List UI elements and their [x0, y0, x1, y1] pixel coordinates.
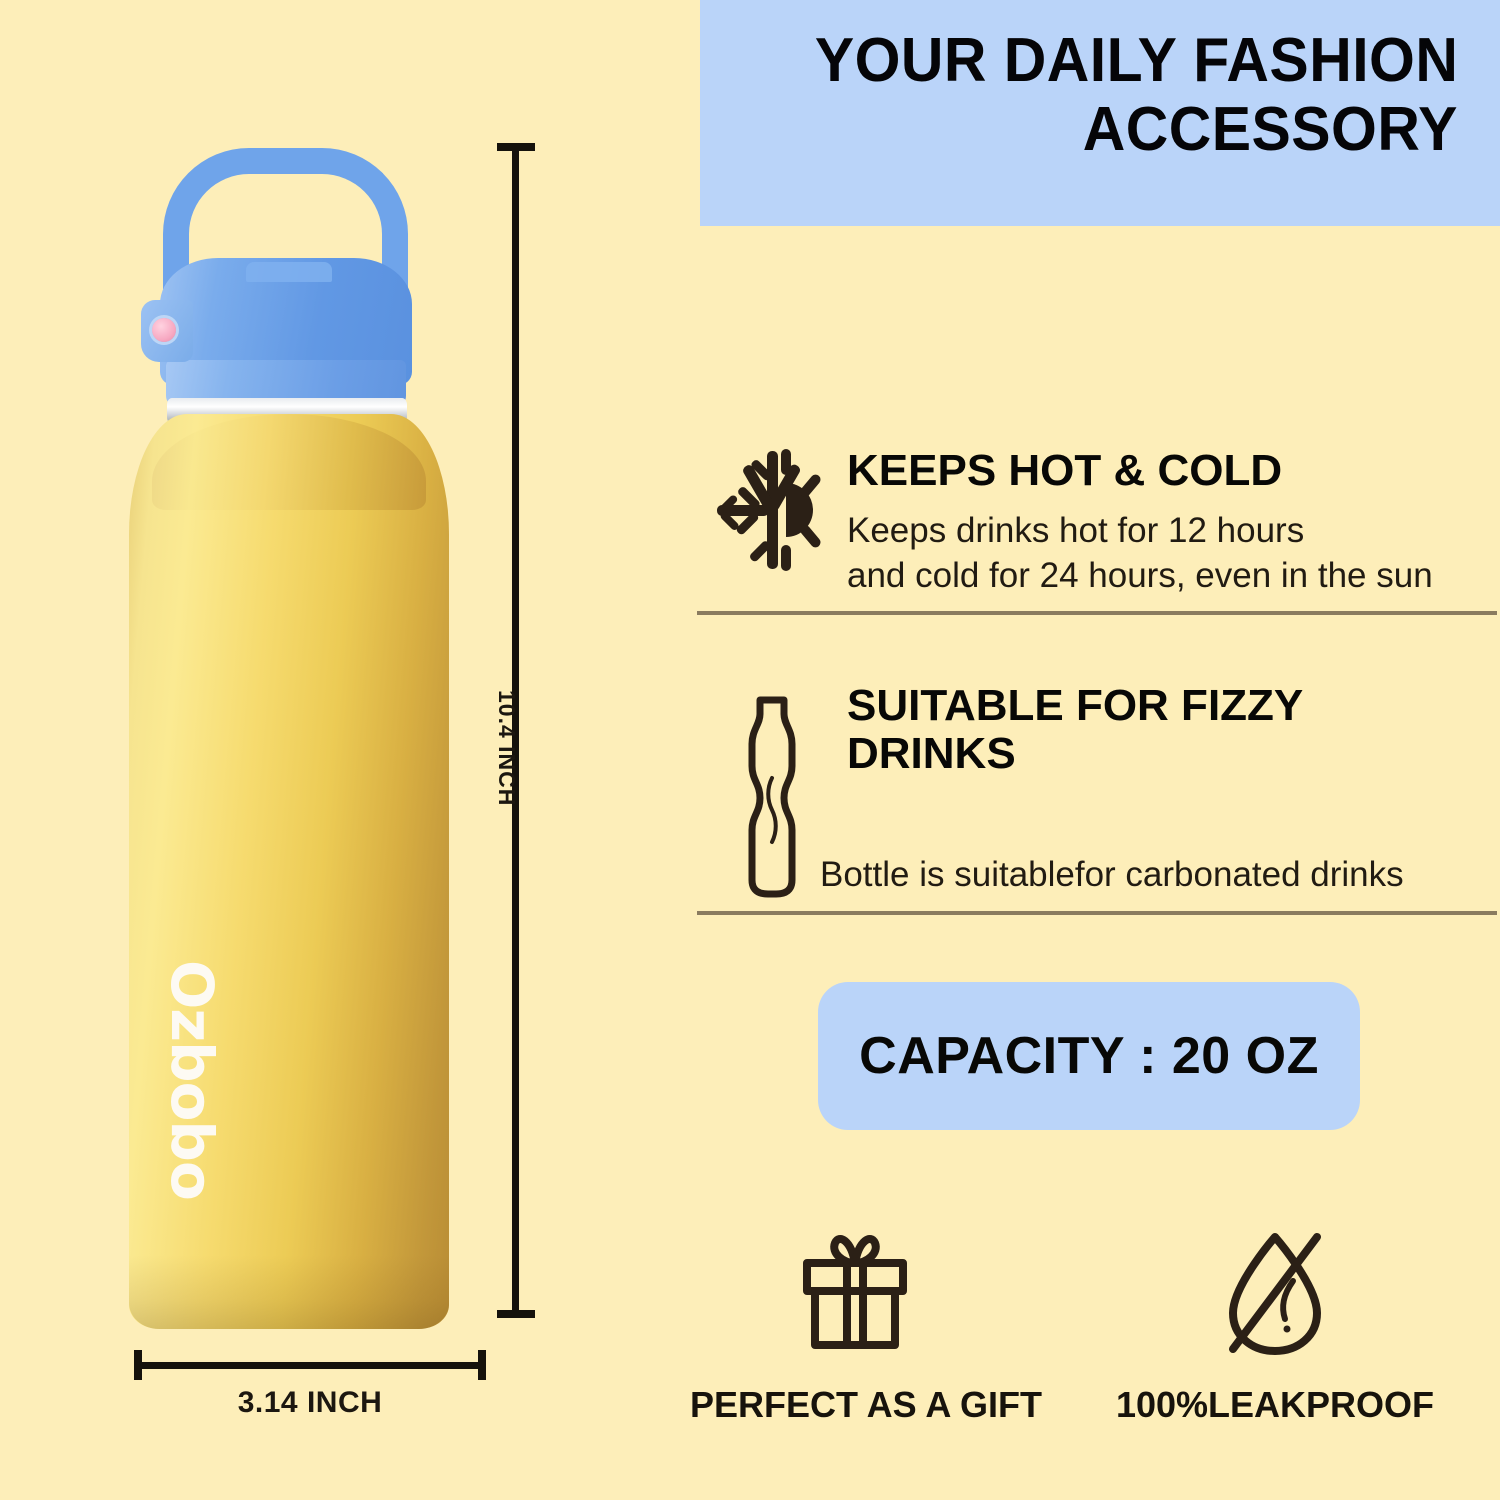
feature-title-line-1: SUITABLE FOR FIZZY: [847, 682, 1487, 730]
capacity-label: CAPACITY : 20 OZ: [859, 1026, 1319, 1086]
header-banner: YOUR DAILY FASHION ACCESSORY: [700, 0, 1500, 226]
badge-label: PERFECT AS A GIFT: [690, 1384, 1020, 1426]
infographic-canvas: YOUR DAILY FASHION ACCESSORY Ozbobo 10.4…: [0, 0, 1500, 1500]
section-divider-2: [697, 911, 1497, 915]
section-divider-1: [697, 611, 1497, 615]
height-dimension-label: 10.4 INCH: [493, 690, 520, 806]
bottle-cap-lock-button: [152, 318, 176, 342]
feature-title: KEEPS HOT & COLD: [847, 447, 1487, 495]
bottle-base-shading: [129, 1255, 449, 1329]
bottle-brand-logo: Ozbobo: [156, 960, 226, 1200]
width-dimension-cap-right: [478, 1350, 486, 1380]
capacity-badge: CAPACITY : 20 OZ: [818, 982, 1360, 1130]
bottle-cap-ridge: [246, 262, 332, 282]
feature-description-line-2: and cold for 24 hours, even in the sun: [847, 554, 1487, 599]
feature-suitable-for-fizzy-drinks-text: SUITABLE FOR FIZZY DRINKS: [847, 680, 1487, 779]
badge-label: 100%LEAKPROOF: [1110, 1384, 1440, 1426]
feature-description: Keeps drinks hot for 12 hours and cold f…: [847, 509, 1487, 599]
badge-perfect-as-a-gift: PERFECT AS A GIFT: [690, 1218, 1020, 1426]
width-dimension-line: [134, 1362, 486, 1369]
feature-title-line-2: DRINKS: [847, 730, 1487, 778]
snowflake-sun-icon: [697, 445, 847, 575]
gift-box-icon: [690, 1218, 1020, 1368]
feature-keeps-hot-and-cold-text: KEEPS HOT & COLD Keeps drinks hot for 12…: [847, 445, 1487, 599]
no-leak-droplet-icon: [1110, 1218, 1440, 1368]
header-title-line-1: YOUR DAILY FASHION: [815, 26, 1458, 95]
feature-fizzy-description: Bottle is suitablefor carbonated drinks: [820, 855, 1490, 895]
product-image: Ozbobo: [0, 0, 700, 1500]
badge-leakproof: 100%LEAKPROOF: [1110, 1218, 1440, 1426]
height-dimension-cap-bottom: [497, 1310, 535, 1318]
header-title-line-2: ACCESSORY: [1083, 95, 1458, 164]
feature-keeps-hot-and-cold: KEEPS HOT & COLD Keeps drinks hot for 12…: [697, 445, 1487, 599]
width-dimension-label: 3.14 INCH: [0, 1386, 620, 1420]
feature-description-line-1: Keeps drinks hot for 12 hours: [847, 509, 1487, 554]
